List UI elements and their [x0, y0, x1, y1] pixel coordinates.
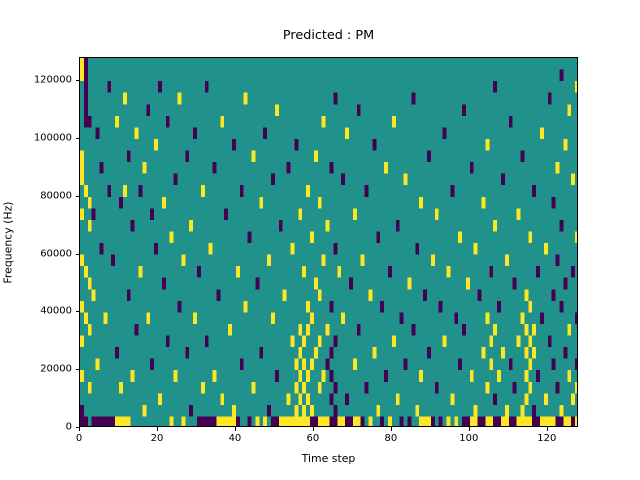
y-axis-label: Frequency (Hz): [0, 57, 16, 427]
y-tick-label: 40000: [72, 306, 104, 317]
x-tick-mark: [469, 427, 470, 431]
x-tick-mark: [313, 427, 314, 431]
x-tick-mark: [547, 427, 548, 431]
x-tick-label: 120: [537, 433, 556, 444]
x-tick-label: 40: [229, 433, 242, 444]
y-tick-label: 120000: [72, 75, 110, 86]
y-axis-label-text: Frequency (Hz): [2, 201, 15, 283]
heatmap-plot-area[interactable]: [79, 57, 578, 427]
heatmap-image: [80, 58, 578, 427]
x-tick-label: 80: [385, 433, 398, 444]
x-tick-label: 0: [76, 433, 82, 444]
x-axis-label: Time step: [79, 452, 578, 465]
y-tick-label: 60000: [72, 248, 104, 259]
y-tick-label: 80000: [72, 190, 104, 201]
y-tick-label: 20000: [72, 364, 104, 375]
x-tick-label: 20: [151, 433, 164, 444]
matplotlib-figure: Predicted : PM 020406080100120 020000400…: [0, 0, 640, 480]
y-tick-label: 100000: [72, 132, 110, 143]
x-tick-mark: [79, 427, 80, 431]
x-tick-mark: [157, 427, 158, 431]
x-tick-label: 100: [459, 433, 478, 444]
chart-title: Predicted : PM: [79, 28, 578, 43]
x-tick-label: 60: [307, 433, 320, 444]
x-tick-mark: [235, 427, 236, 431]
x-tick-mark: [391, 427, 392, 431]
y-tick-label: 0: [72, 422, 78, 433]
